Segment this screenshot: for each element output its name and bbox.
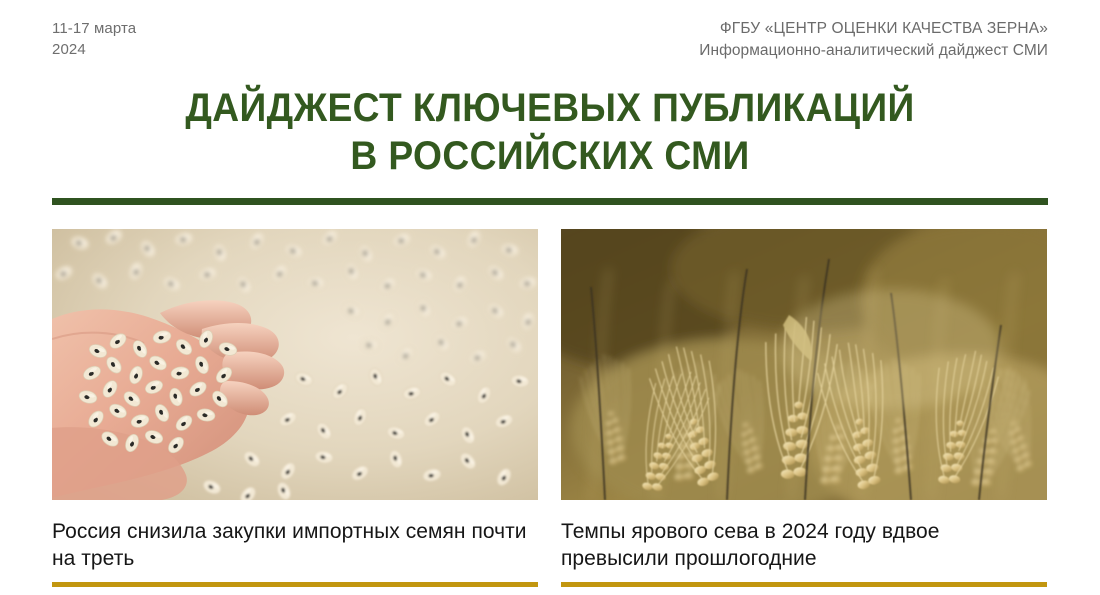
page-title-line-1: ДАЙДЖЕСТ КЛЮЧЕВЫХ ПУБЛИКАЦИЙ [39,84,1062,132]
article-card[interactable]: Темпы ярового сева в 2024 году вдвое пре… [561,229,1047,587]
card-accent-rule [561,582,1047,587]
organization-block: ФГБУ «ЦЕНТР ОЦЕНКИ КАЧЕСТВА ЗЕРНА» Инфор… [699,18,1048,62]
issue-date: 11-17 марта 2024 [52,18,136,60]
card-accent-rule [52,582,538,587]
article-caption: Темпы ярового сева в 2024 году вдвое пре… [561,518,1047,574]
article-card[interactable]: Россия снизила закупки импортных семян п… [52,229,538,587]
masthead: 11-17 марта 2024 ФГБУ «ЦЕНТР ОЦЕНКИ КАЧЕ… [52,18,1048,78]
article-caption: Россия снизила закупки импортных семян п… [52,518,538,574]
digest-cover-page: 11-17 марта 2024 ФГБУ «ЦЕНТР ОЦЕНКИ КАЧЕ… [0,0,1100,595]
article-card-list: Россия снизила закупки импортных семян п… [52,229,1048,587]
beans-in-hand-image [52,229,538,500]
page-title: ДАЙДЖЕСТ КЛЮЧЕВЫХ ПУБЛИКАЦИЙ В РОССИЙСКИ… [0,84,1100,180]
organization-name: ФГБУ «ЦЕНТР ОЦЕНКИ КАЧЕСТВА ЗЕРНА» [699,18,1048,40]
publication-subtitle: Информационно-аналитический дайджест СМИ [699,40,1048,62]
header-divider [52,198,1048,205]
page-title-line-2: В РОССИЙСКИХ СМИ [39,132,1062,180]
wheat-field-image [561,229,1047,500]
